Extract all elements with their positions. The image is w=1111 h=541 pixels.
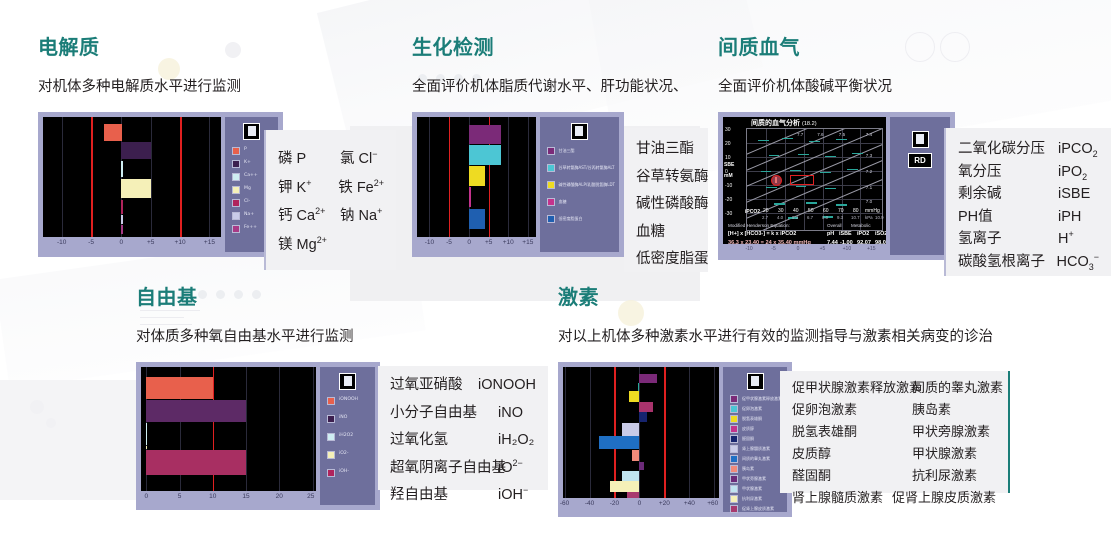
legend-label: 醛固酮 xyxy=(742,437,754,441)
term-symbol: P xyxy=(297,151,307,167)
legend-swatch xyxy=(232,225,240,233)
electrolyte-plot-area[interactable] xyxy=(43,117,221,237)
measurement-box[interactable] xyxy=(790,175,814,185)
biochem-terms-card: 甘油三酯 谷草转氨酶A 碱性磷酸酶 血糖 低密度脂蛋 xyxy=(624,128,708,272)
x-tick: +5 xyxy=(485,239,492,246)
iso-label: 7.7 xyxy=(797,132,803,137)
hormone-legend: 促甲状腺激素释放激素 促卵泡激素 脱氢表雄酮 皮质醇 醛固酮 肾上腺髓质激素 间… xyxy=(723,367,787,512)
iso-label: 7.6 xyxy=(817,132,823,137)
term-cn: 氧分压 xyxy=(958,165,1058,180)
bar-K[interactable] xyxy=(121,142,150,159)
biochem-terms-list: 甘油三酯 谷草转氨酶A 碱性磷酸酶 血糖 低密度脂蛋 xyxy=(636,142,696,267)
electrolyte-x-axis: -10 -5 0 +5 +10 +15 xyxy=(43,237,221,250)
term-right: 胰岛素 xyxy=(912,403,951,416)
legend-item[interactable]: iNO xyxy=(327,415,371,423)
electrolyte-terms-list: 磷 P 氯 Cl− 钾 K+ 铁 Fe2+ 钙 Ca2+ 钠 Na+ 镁 Mg2… xyxy=(278,152,384,252)
term-charge: 2+ xyxy=(317,235,327,245)
term-charge: 2+ xyxy=(374,178,384,188)
legend-label: Na+ xyxy=(244,213,254,218)
legend-label: iO2- xyxy=(339,452,348,457)
x-tick: +20 xyxy=(659,500,670,507)
legend-toolbar[interactable] xyxy=(544,123,615,140)
legend-label: iOH- xyxy=(339,470,349,475)
term-sub: 2 xyxy=(1082,171,1087,181)
bloodgas-terms-list: 二氧化碳分压iPCO2 氧分压iPO2 剩余碱iSBE PH值iPH 氢离子H+… xyxy=(958,142,1099,269)
term-cn: 超氧阴离子自由基 xyxy=(390,461,498,476)
panel-bloodgas: 间质血气 全面评价机体酸碱平衡状况 间质的血气分析 (18.2) 30 20 1… xyxy=(718,38,955,260)
value-header: iSBE xyxy=(839,231,852,237)
term-symbol: iONOOH xyxy=(478,378,536,393)
term-right: 甲状腺激素 xyxy=(912,447,977,460)
electrolyte-terms-card: 磷 P 氯 Cl− 钾 K+ 铁 Fe2+ 钙 Ca2+ 钠 Na+ 镁 Mg2… xyxy=(264,130,396,270)
legend-swatch xyxy=(547,147,555,155)
x-tick: 80 xyxy=(853,208,859,214)
term-symbol: iPH xyxy=(1058,210,1081,225)
hormone-x-axis: -60 -40 -20 0 +20 +40 +60 xyxy=(563,498,719,511)
bar-Ca[interactable] xyxy=(121,161,123,177)
x-tick: -10 xyxy=(57,239,66,246)
term-left: 醛固酮 xyxy=(792,469,912,482)
radical-chart[interactable]: 0 5 10 15 20 25 iONOOH iNO iH2O2 iO2- iO… xyxy=(136,362,380,510)
term-row: 羟自由基iOH− xyxy=(390,488,536,503)
bar-adrenomedullin[interactable] xyxy=(622,423,639,436)
term-row: 碱性磷酸酶 xyxy=(636,197,696,212)
panel-subtitle: 对机体多种电解质水平进行监测 xyxy=(38,80,283,95)
x-axis-label: iPCO2 xyxy=(745,209,760,215)
x-tick: +5 xyxy=(147,239,154,246)
term-cn: 碳酸氢根离子 xyxy=(958,255,1057,270)
term-left: 肾上腺髓质激素 xyxy=(792,491,892,504)
legend-item[interactable]: 甘油三酯 xyxy=(547,147,615,155)
term-row: PH值iPH xyxy=(958,210,1099,225)
term-row: 甘油三酯 xyxy=(636,142,696,157)
legend-swatch xyxy=(232,173,240,181)
legend-label: Mg xyxy=(244,187,251,192)
legend-item[interactable]: 碱性磷酸酶ALP/乳酸脱氢酶LDT xyxy=(547,181,615,189)
x-tick: +15 xyxy=(204,239,215,246)
x-tick-kpa: 9.3 xyxy=(837,215,843,220)
gridline xyxy=(714,367,715,498)
bar-Cl[interactable] xyxy=(121,200,122,214)
biochem-x-axis: -10 -5 0 +5 +10 +15 xyxy=(417,237,536,250)
x-tick: -5 xyxy=(771,246,775,252)
term-cn: PH值 xyxy=(958,210,1058,225)
bar-adh[interactable] xyxy=(610,481,640,492)
rd-button[interactable]: RD xyxy=(908,153,932,168)
legend-label: 甲状腺激素 xyxy=(742,487,762,491)
term-charge: 2− xyxy=(513,458,523,468)
x-tick: 0 xyxy=(467,239,471,246)
legend-swatch xyxy=(547,215,555,223)
hormone-terms-card: 促甲状腺激素释放激素间质的睾丸激素 促卵泡激素胰岛素 脱氢表雄酮甲状旁腺激素 皮… xyxy=(780,371,1010,493)
term-symbol: H xyxy=(1058,231,1068,247)
term-cn: 铁 xyxy=(338,180,353,196)
bar-cortisol[interactable] xyxy=(639,402,653,412)
x-tick: 60 xyxy=(823,208,829,214)
x-tick: 30 xyxy=(778,208,784,214)
legend-label: 促肾上腺皮质激素 xyxy=(742,507,774,511)
legend-item[interactable]: 抗利尿激素 xyxy=(730,495,783,503)
legend-swatch xyxy=(327,433,335,441)
panel-title: 生化检测 xyxy=(412,38,688,58)
term-symbol: iPCO xyxy=(1058,141,1093,157)
y-axis-label: SBE xyxy=(724,162,734,168)
term-row: 谷草转氨酶A xyxy=(636,170,696,185)
bg-circle-3 xyxy=(46,418,56,428)
bar-P[interactable] xyxy=(104,124,122,141)
legend-item[interactable]: 低密度脂蛋白 xyxy=(547,215,615,223)
legend-toolbar[interactable]: RD xyxy=(894,131,946,168)
legend-swatch xyxy=(232,147,240,155)
y-tick: -30 xyxy=(725,211,732,217)
x-tick: -20 xyxy=(610,500,619,507)
x-tick-kpa: 10.9 xyxy=(875,215,884,220)
panel-subtitle: 全面评价机体脂质代谢水平、肝功能状况、 xyxy=(412,80,688,95)
x-tick: 40 xyxy=(793,208,799,214)
hormone-plot-area[interactable] xyxy=(563,367,719,498)
legend-label: 脱氢表雄酮 xyxy=(742,417,762,421)
term-row: 二氧化碳分压iPCO2 xyxy=(958,142,1099,157)
term-row: 磷 P 氯 Cl− xyxy=(278,152,384,167)
legend-label: 肾上腺髓质激素 xyxy=(742,447,770,451)
gridline xyxy=(639,367,640,498)
bar-iOH[interactable] xyxy=(146,450,246,475)
legend-item[interactable]: iOH- xyxy=(327,469,371,477)
term-row: 镁 Mg2+ xyxy=(278,238,384,253)
hormone-chart[interactable]: -60 -40 -20 0 +20 +40 +60 促甲状腺激素释放激素 促卵泡… xyxy=(558,362,792,517)
legend-swatch xyxy=(232,186,240,194)
radical-plot-area[interactable] xyxy=(141,367,316,491)
legend-swatch xyxy=(730,485,738,493)
term-right: 抗利尿激素 xyxy=(912,469,977,482)
y-tick: 10 xyxy=(725,155,731,161)
term-row: 超氧阴离子自由基iO2− xyxy=(390,461,536,476)
y-tick: 20 xyxy=(725,141,731,147)
term-row: 小分子自由基iNO xyxy=(390,406,536,421)
term-symbol: iOH xyxy=(498,487,523,503)
bar-pth[interactable] xyxy=(639,462,644,470)
gridline xyxy=(429,117,430,237)
term-row: 皮质醇甲状腺激素 xyxy=(792,447,996,460)
legend-item[interactable]: 间质的睾丸激素 xyxy=(730,455,783,463)
term-cn: 氢离子 xyxy=(958,232,1058,247)
panel-title: 激素 xyxy=(558,288,993,308)
legend-label: Fe++ xyxy=(244,226,257,231)
hormone-terms-list: 促甲状腺激素释放激素间质的睾丸激素 促卵泡激素胰岛素 脱氢表雄酮甲状旁腺激素 皮… xyxy=(792,381,996,504)
equation-line: [H+] x [HCO3-] = k x iPCO2 xyxy=(728,231,796,237)
bloodgas-terms-card: 二氧化碳分压iPCO2 氧分压iPO2 剩余碱iSBE PH值iPH 氢离子H+… xyxy=(944,128,1111,276)
term-left: 促卵泡激素 xyxy=(792,403,912,416)
panel-title: 间质血气 xyxy=(718,38,955,58)
legend-item[interactable]: 促甲状腺激素释放激素 xyxy=(730,395,783,403)
term-charge: 2+ xyxy=(315,206,325,216)
document-icon[interactable] xyxy=(339,373,356,390)
bar-iO2[interactable] xyxy=(146,446,147,449)
equation-caption: Modified Henderson Equation: xyxy=(728,223,790,228)
legend-label: 血糖 xyxy=(559,200,567,204)
term-left: 促甲状腺激素释放激素 xyxy=(792,381,912,394)
x-tick: 0 xyxy=(120,239,124,246)
legend-item[interactable]: 血糖 xyxy=(547,198,615,206)
term-row: 肾上腺髓质激素促肾上腺皮质激素 xyxy=(792,491,996,504)
bar-iNO[interactable] xyxy=(146,400,246,422)
term-row: 过氧化氢iH₂O₂ xyxy=(390,433,536,448)
term-symbol: K xyxy=(297,180,307,196)
legend-swatch xyxy=(327,469,335,477)
term-charge: − xyxy=(1094,252,1099,262)
document-icon[interactable] xyxy=(747,373,764,390)
legend-label: P xyxy=(244,148,247,153)
term-symbol: iPO xyxy=(1058,164,1082,180)
legend-toolbar[interactable] xyxy=(727,373,783,390)
legend-label: 皮质醇 xyxy=(742,427,754,431)
term-sub: 2 xyxy=(1093,149,1098,159)
x-tick: -10 xyxy=(425,239,434,246)
bar-testosterone[interactable] xyxy=(599,436,640,449)
bar-dhea[interactable] xyxy=(629,391,640,402)
bloodgas-footer-axis: -10 -5 0 +5 +10 +15 xyxy=(723,244,886,255)
bloodgas-chart[interactable]: 间质的血气分析 (18.2) 30 20 10 0 -10 -20 -30 SB… xyxy=(718,112,955,260)
gridline xyxy=(313,367,314,491)
x-axis-unit-kpa: kPa xyxy=(865,215,873,220)
legend-swatch xyxy=(730,435,738,443)
panel-title: 自由基 xyxy=(136,288,380,308)
bloodgas-legend: RD xyxy=(890,117,950,255)
x-tick: -5 xyxy=(446,239,452,246)
term-symbol: iSBE xyxy=(1058,187,1090,202)
legend-item[interactable]: 甲状腺激素 xyxy=(730,485,783,493)
legend-swatch xyxy=(730,455,738,463)
radical-legend: iONOOH iNO iH2O2 iO2- iOH- xyxy=(320,367,375,505)
x-tick: 15 xyxy=(242,493,249,500)
term-row: 氢离子H+ xyxy=(958,232,1099,247)
bar-Na[interactable] xyxy=(121,215,122,224)
x-tick: +15 xyxy=(522,239,533,246)
legend-label: Cl- xyxy=(244,200,250,205)
legend-swatch xyxy=(547,181,555,189)
term-cn: 磷 xyxy=(278,151,293,167)
term-row: 促甲状腺激素释放激素间质的睾丸激素 xyxy=(792,381,996,394)
x-tick: 5 xyxy=(178,493,182,500)
legend-swatch xyxy=(730,505,738,513)
legend-swatch xyxy=(730,425,738,433)
document-icon[interactable] xyxy=(571,123,588,140)
legend-swatch xyxy=(730,415,738,423)
legend-item[interactable]: 皮质醇 xyxy=(730,425,783,433)
x-tick: +40 xyxy=(684,500,695,507)
y-axis-unit: mM xyxy=(724,173,733,179)
x-tick-kpa: 10.7 xyxy=(851,215,860,220)
x-tick: -40 xyxy=(585,500,594,507)
panel-subtitle: 全面评价机体酸碱平衡状况 xyxy=(718,80,955,95)
legend-label: 低密度脂蛋白 xyxy=(559,217,583,221)
legend-label: 促卵泡激素 xyxy=(742,407,762,411)
term-row: 钙 Ca2+ 钠 Na+ xyxy=(278,209,384,224)
term-row: 过氧亚硝酸iONOOH xyxy=(390,378,536,393)
x-tick: 20 xyxy=(276,493,283,500)
term-row: 钾 K+ 铁 Fe2+ xyxy=(278,181,384,196)
term-row: 碳酸氢根离子HCO3− xyxy=(958,255,1099,270)
legend-label: 碱性磷酸酶ALP/乳酸脱氢酶LDT xyxy=(559,183,615,187)
term-symbol: Fe xyxy=(357,180,374,196)
legend-item[interactable]: 促肾上腺皮质激素 xyxy=(730,505,783,513)
term-cn: 过氧亚硝酸 xyxy=(390,378,478,393)
legend-swatch xyxy=(327,397,335,405)
legend-label: 促甲状腺激素释放激素 xyxy=(742,397,782,401)
x-axis-unit: mmHg xyxy=(865,208,880,214)
bar-ldl[interactable] xyxy=(469,209,484,229)
value-header: iPO2 xyxy=(857,231,869,237)
legend-label: 甲状旁腺激素 xyxy=(742,477,766,481)
legend-label: iH2O2 xyxy=(339,434,353,439)
term-charge: + xyxy=(306,178,311,188)
legend-item[interactable]: iONOOH xyxy=(327,397,371,405)
x-tick: 70 xyxy=(838,208,844,214)
bar-alp[interactable] xyxy=(469,166,484,186)
value-header: iSO2 xyxy=(875,231,886,237)
legend-swatch xyxy=(730,495,738,503)
legend-swatch xyxy=(730,475,738,483)
bar-ast[interactable] xyxy=(469,145,501,165)
legend-label: 甘油三酯 xyxy=(559,149,575,153)
legend-swatch xyxy=(232,212,240,220)
x-tick-kpa: 6.7 xyxy=(807,215,813,220)
bg-panel-2 xyxy=(0,380,150,500)
biochem-plot-area[interactable] xyxy=(417,117,536,237)
term-row: 醛固酮抗利尿激素 xyxy=(792,469,996,482)
term-symbol: Mg xyxy=(297,237,317,253)
legend-item[interactable]: 谷草转氨酶AST/谷丙转氨酶ALT xyxy=(547,164,615,172)
term-left: 皮质醇 xyxy=(792,447,912,460)
bar-glucose[interactable] xyxy=(469,187,471,207)
x-tick-kpa: 2.7 xyxy=(762,215,768,220)
x-tick: -10 xyxy=(745,246,752,252)
bar-iH2O2[interactable] xyxy=(146,423,147,445)
legend-toolbar[interactable] xyxy=(324,373,371,390)
x-tick: 0 xyxy=(797,246,800,252)
legend-label: K+ xyxy=(244,161,251,166)
equation-caption: Metabolic xyxy=(851,223,871,228)
legend-label: Ca++ xyxy=(244,174,258,179)
term-row: 血糖 xyxy=(636,225,696,240)
term-charge: + xyxy=(1068,229,1073,239)
term-left: 脱氢表雄酮 xyxy=(792,425,912,438)
term-charge: − xyxy=(372,149,377,159)
legend-swatch xyxy=(547,164,555,172)
term-cn: 钾 xyxy=(278,180,293,196)
x-tick-kpa: 8.0 xyxy=(822,215,828,220)
legend-item[interactable]: 胰岛素 xyxy=(730,465,783,473)
value-header: pH xyxy=(827,231,834,237)
nomogram-version: (18.2) xyxy=(802,121,817,127)
gridline xyxy=(279,367,280,491)
x-tick-kpa: 5.3 xyxy=(792,215,798,220)
x-tick: +5 xyxy=(820,246,826,252)
gridline xyxy=(565,367,566,498)
legend-item[interactable]: 甲状旁腺激素 xyxy=(730,475,783,483)
term-row: 脱氢表雄酮甲状旁腺激素 xyxy=(792,425,996,438)
term-symbol: iH₂O₂ xyxy=(498,433,534,448)
document-icon[interactable] xyxy=(243,123,260,140)
legend-swatch xyxy=(327,415,335,423)
legend-label: iNO xyxy=(339,416,347,421)
iso-label: 7.4 xyxy=(866,132,872,137)
reference-line-low xyxy=(449,117,451,237)
radical-terms-card: 过氧亚硝酸iONOOH 小分子自由基iNO 过氧化氢iH₂O₂ 超氧阴离子自由基… xyxy=(378,366,548,490)
x-tick: -60 xyxy=(560,500,569,507)
term-symbol: Ca xyxy=(297,208,316,224)
gridline xyxy=(209,117,210,237)
legend-item[interactable]: 醛固酮 xyxy=(730,435,783,443)
gridline xyxy=(590,367,591,498)
radical-x-axis: 0 5 10 15 20 25 xyxy=(141,491,316,504)
iso-label: 7.2 xyxy=(866,169,872,174)
reference-line-high xyxy=(180,117,182,237)
bloodgas-nomogram[interactable]: 间质的血气分析 (18.2) 30 20 10 0 -10 -20 -30 SB… xyxy=(723,117,886,255)
legend-swatch xyxy=(730,395,738,403)
radical-terms-list: 过氧亚硝酸iONOOH 小分子自由基iNO 过氧化氢iH₂O₂ 超氧阴离子自由基… xyxy=(390,378,536,503)
bar-iONOOH[interactable] xyxy=(146,377,213,399)
legend-label: 胰岛素 xyxy=(742,467,754,471)
bg-circle-2 xyxy=(30,400,44,414)
legend-label: 间质的睾丸激素 xyxy=(742,457,770,461)
x-tick: +10 xyxy=(843,246,851,252)
term-cn: 钙 xyxy=(278,208,293,224)
reference-line-low xyxy=(91,117,93,237)
term-symbol: iNO xyxy=(498,406,523,421)
legend-item[interactable]: iO2- xyxy=(327,451,371,459)
x-tick: 0 xyxy=(638,500,642,507)
panel-subtitle: 对以上机体多种激素水平进行有效的监测指导与激素相关病变的诊治 xyxy=(558,330,993,345)
document-icon[interactable] xyxy=(912,131,929,148)
gridline xyxy=(62,117,63,237)
legend-item[interactable]: 肾上腺髓质激素 xyxy=(730,445,783,453)
bar-Mg[interactable] xyxy=(121,179,150,198)
equation-caption: Overall xyxy=(827,223,842,228)
legend-swatch xyxy=(730,405,738,413)
biochem-chart[interactable]: -10 -5 0 +5 +10 +15 甘油三酯 谷草转氨酶AST/谷丙转氨酶A… xyxy=(412,112,624,257)
term-row: 氧分压iPO2 xyxy=(958,165,1099,180)
bar-insulin[interactable] xyxy=(632,450,640,461)
term-symbol: Na xyxy=(359,208,378,224)
legend-item[interactable]: 促卵泡激素 xyxy=(730,405,783,413)
iso-label: 7.0 xyxy=(866,199,872,204)
legend-item[interactable]: iH2O2 xyxy=(327,433,371,441)
legend-item[interactable]: 脱氢表雄酮 xyxy=(730,415,783,423)
bar-Fe[interactable] xyxy=(121,225,122,234)
gridline xyxy=(246,367,247,491)
term-cn: 剩余碱 xyxy=(958,187,1058,202)
y-tick: 30 xyxy=(725,127,731,133)
x-tick: 20 xyxy=(763,208,769,214)
nomogram-title: 间质的血气分析 (18.2) xyxy=(751,118,817,128)
term-symbol: Cl xyxy=(359,151,373,167)
panel-subtitle: 对体质多种氧自由基水平进行监测 xyxy=(136,330,380,345)
gridline xyxy=(689,367,690,498)
x-tick: +60 xyxy=(707,500,718,507)
iso-label: 7.5 xyxy=(839,132,845,137)
bar-thyroid[interactable] xyxy=(622,471,639,481)
gridline xyxy=(151,117,152,237)
bar-aldosterone[interactable] xyxy=(639,412,647,422)
x-tick: +15 xyxy=(867,246,875,252)
term-symbol: iO xyxy=(498,460,513,476)
term-cn: 氯 xyxy=(340,151,355,167)
bar-triglyceride[interactable] xyxy=(469,125,501,144)
bar-trh[interactable] xyxy=(639,374,656,383)
electrolyte-chart[interactable]: -10 -5 0 +5 +10 +15 P K+ Ca++ Mg Cl- Na+… xyxy=(38,112,283,257)
iso-label: 7.3 xyxy=(866,153,872,158)
